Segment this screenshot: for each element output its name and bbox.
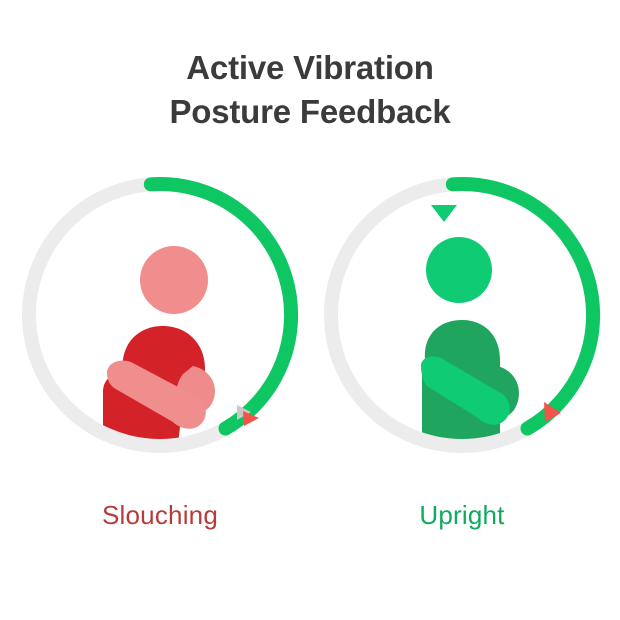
panel-label-upright: Upright [312,500,612,531]
panel-slouching: Slouching [10,170,310,570]
gauge-upright [317,170,607,460]
page-title: Active Vibration Posture Feedback [0,46,620,134]
title-line-2: Posture Feedback [0,90,620,134]
posture-target-green-icon [431,205,457,222]
figure-head [140,246,208,314]
panel-upright: Upright [312,170,612,570]
panel-label-slouching: Slouching [10,500,310,531]
panel-row: Slouching [0,170,620,570]
figure-head [426,237,492,303]
gauge-slouching [15,170,305,460]
title-line-1: Active Vibration [0,46,620,90]
infographic-page: Active Vibration Posture Feedback [0,0,620,620]
